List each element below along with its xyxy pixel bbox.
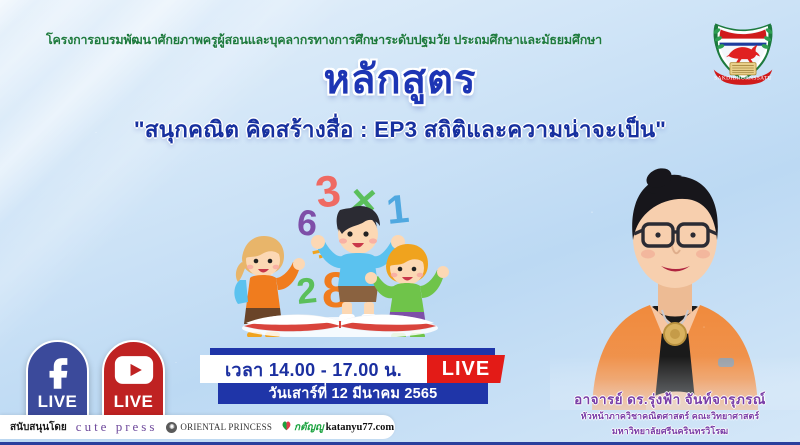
- youtube-live-label: LIVE: [114, 393, 154, 410]
- live-badge: LIVE: [427, 355, 505, 383]
- facebook-live-label: LIVE: [38, 393, 78, 410]
- sponsor-label: สนับสนุนโดย: [10, 420, 67, 435]
- facebook-icon: [41, 348, 75, 392]
- open-book-icon: [242, 315, 438, 337]
- speaker-name: อาจารย์ ดร.รุ่งฟ้า จันท์จารุภรณ์: [546, 392, 794, 408]
- digit-2: 2: [295, 269, 319, 312]
- oriental-princess-mark-icon: ✺: [166, 422, 177, 433]
- speaker-role-line2: มหาวิทยาลัยศรีนครินทรวิโรฒ: [546, 425, 794, 438]
- facebook-live-badge[interactable]: LIVE: [26, 340, 89, 425]
- katanyu-thai-label: กตัญญู: [294, 420, 324, 435]
- cute-press-logo: cute press: [76, 419, 158, 435]
- schedule-date: วันเสาร์ที่ 12 มีนาคม 2565: [218, 383, 488, 404]
- speaker-caption: อาจารย์ ดร.รุ่งฟ้า จันท์จารุภรณ์ หัวหน้า…: [546, 392, 794, 438]
- katanyu-heart-icon: [281, 418, 292, 436]
- presenter-photo: [550, 120, 800, 410]
- schedule-time: เวลา 14.00 - 17.00 น.: [200, 355, 427, 383]
- schedule-time-row: เวลา 14.00 - 17.00 น. LIVE: [200, 355, 505, 383]
- katanyu-logo: กตัญญู katanyu77.com: [281, 418, 394, 436]
- program-line: โครงการอบรมพัฒนาศักยภาพครูผู้สอนและบุคลา…: [46, 30, 666, 50]
- oriental-princess-label: ORIENTAL PRINCESS: [180, 422, 272, 432]
- youtube-icon: [114, 348, 154, 392]
- speaker-role-line1: หัวหน้าภาควิชาคณิตศาสตร์ คณะวิทยาศาสตร์: [546, 410, 794, 423]
- page-title: หลักสูตร: [0, 60, 800, 100]
- youtube-live-badge[interactable]: LIVE: [102, 340, 165, 425]
- sponsor-bar: สนับสนุนโดย cute press ✺ ORIENTAL PRINCE…: [0, 415, 395, 439]
- oriental-princess-logo: ✺ ORIENTAL PRINCESS: [166, 422, 272, 433]
- schedule-box: เวลา 14.00 - 17.00 น. LIVE วันเสาร์ที่ 1…: [200, 348, 505, 406]
- social-live-badges: LIVE LIVE: [26, 340, 165, 425]
- poster-canvas: โครงการอบรมพัฒนาศักยภาพครูผู้สอนและบุคลา…: [0, 0, 800, 445]
- katanyu-url: katanyu77.com: [326, 422, 395, 433]
- kids-math-book-illustration: 3 6 × 1 ÷ 8 2 +: [200, 162, 480, 337]
- digit-1: 1: [384, 187, 411, 233]
